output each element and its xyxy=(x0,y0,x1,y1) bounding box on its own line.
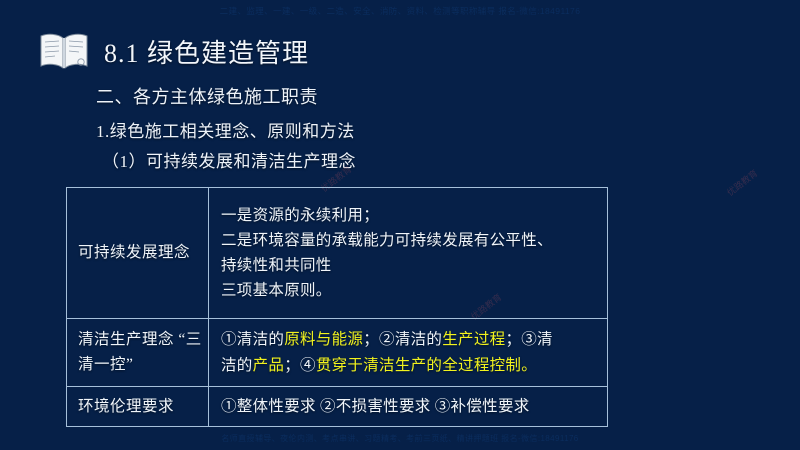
content-line: 三项基本原则。 xyxy=(221,278,599,303)
row-label-cell: 环境伦理要求 xyxy=(67,387,209,427)
table-row: 可持续发展理念 一是资源的永续利用； 二是环境容量的承载能力可持续发展有公平性、… xyxy=(67,188,608,319)
row-label-cell: 清洁生产理念 “三清一控” xyxy=(67,319,209,387)
page-title: 8.1 绿色建造管理 xyxy=(104,33,309,70)
text-run: 洁的 xyxy=(221,357,253,374)
table-row: 环境伦理要求 ①整体性要求 ②不损害性要求 ③补偿性要求 xyxy=(67,387,608,427)
row-label-line: 清洁生产理念 xyxy=(78,331,174,348)
slide-header: 8.1 绿色建造管理 xyxy=(38,27,309,75)
heading-level-3: （1）可持续发展和清洁生产理念 xyxy=(102,147,356,172)
text-run: ；②清洁的 xyxy=(363,331,442,348)
concepts-table: 可持续发展理念 一是资源的永续利用； 二是环境容量的承载能力可持续发展有公平性、… xyxy=(66,187,608,427)
row-content-cell: ①清洁的原料与能源；②清洁的生产过程；③清 洁的产品；④贯穿于清洁生产的全过程控… xyxy=(209,319,608,387)
content-line: 持续性和共同性 xyxy=(221,253,599,278)
heading-level-1: 二、各方主体绿色施工职责 xyxy=(96,83,318,109)
content-line: 二是环境容量的承载能力可持续发展有公平性、 xyxy=(221,228,599,253)
row-label-line: 环境伦理要求 xyxy=(78,398,174,415)
text-run-highlighted: 产品 xyxy=(253,357,285,374)
heading-level-2: 1.绿色施工相关理念、原则和方法 xyxy=(96,117,355,142)
text-run: ；④ xyxy=(284,357,316,374)
text-run: 持续性和共同性 xyxy=(221,257,332,274)
row-content-cell: ①整体性要求 ②不损害性要求 ③补偿性要求 xyxy=(209,387,608,427)
text-run: ①清洁的 xyxy=(221,331,284,348)
text-run-highlighted: 生产过程 xyxy=(442,331,505,348)
text-run: ①整体性要求 ②不损害性要求 ③补偿性要求 xyxy=(221,398,530,415)
top-banner-text: 二建、监理、一建、一级、二造、安全、消防、资料、检测等职称辅导 报名-微信:18… xyxy=(0,5,800,17)
bottom-banner-text: 名师直授辅导、夜伦内测、考点串讲、习题精考、考前三页纸、精讲押题班 报名-微信:… xyxy=(0,433,800,444)
open-book-icon xyxy=(38,30,90,72)
text-run: 二是环境容量的承载能力可持续发展有公平性、 xyxy=(221,232,553,249)
row-label-cell: 可持续发展理念 xyxy=(67,188,209,319)
text-run: 三项基本原则。 xyxy=(221,282,332,299)
text-run-highlighted: 贯穿于清洁生产的全过程控制。 xyxy=(316,357,537,374)
watermark: 优路教育 xyxy=(724,166,760,198)
row-label-line: 可持续发展理念 xyxy=(78,244,190,261)
row-content-cell: 一是资源的永续利用； 二是环境容量的承载能力可持续发展有公平性、 持续性和共同性… xyxy=(209,188,608,319)
table-body: 可持续发展理念 一是资源的永续利用； 二是环境容量的承载能力可持续发展有公平性、… xyxy=(67,188,608,427)
text-run-highlighted: 原料与能源 xyxy=(284,331,363,348)
text-run: 一是资源的永续利用； xyxy=(221,207,379,224)
content-line: 洁的产品；④贯穿于清洁生产的全过程控制。 xyxy=(221,353,599,378)
text-run: ；③清 xyxy=(505,331,552,348)
content-line: ①清洁的原料与能源；②清洁的生产过程；③清 xyxy=(221,327,599,352)
table-row: 清洁生产理念 “三清一控” ①清洁的原料与能源；②清洁的生产过程；③清 洁的产品… xyxy=(67,319,608,387)
content-line: 一是资源的永续利用； xyxy=(221,203,599,228)
